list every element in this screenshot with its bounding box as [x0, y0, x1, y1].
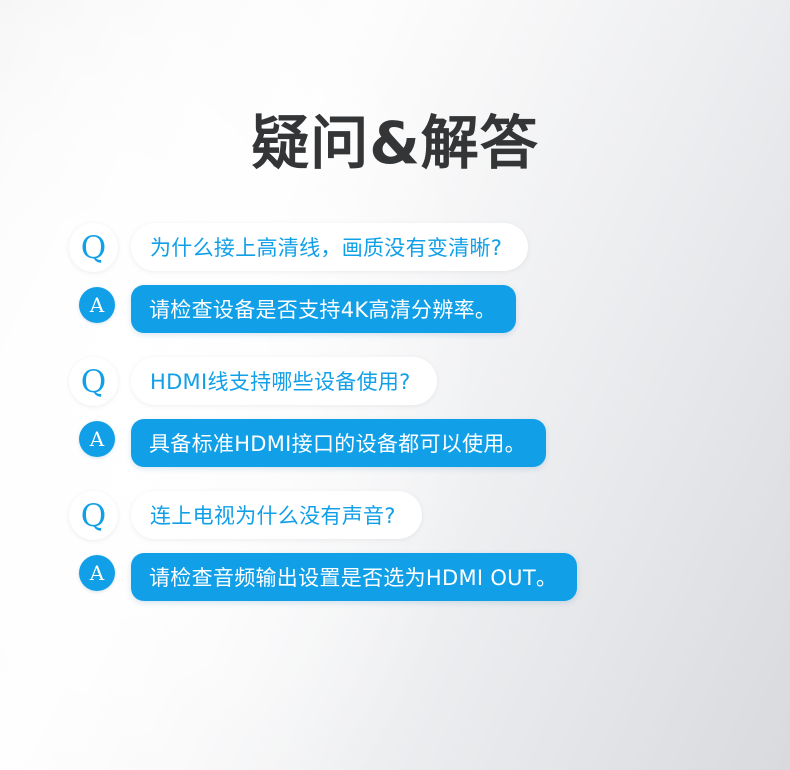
- faq-group: Q 为什么接上高清线，画质没有变清晰? A 请检查设备是否支持4K高清分辨率。: [0, 214, 790, 348]
- answer-badge: A: [79, 555, 115, 591]
- faq-question-row: Q HDMI线支持哪些设备使用?: [0, 348, 790, 415]
- faq-list: Q 为什么接上高清线，画质没有变清晰? A 请检查设备是否支持4K高清分辨率。 …: [0, 214, 790, 616]
- faq-group: Q 连上电视为什么没有声音? A 请检查音频输出设置是否选为HDMI OUT。: [0, 482, 790, 616]
- question-badge: Q: [69, 491, 118, 540]
- question-bubble: 为什么接上高清线，画质没有变清晰?: [131, 223, 528, 271]
- faq-page-content: 疑问&解答 Q 为什么接上高清线，画质没有变清晰? A 请检查设备是否支持4K高…: [0, 0, 790, 770]
- faq-answer-row: A 请检查音频输出设置是否选为HDMI OUT。: [0, 549, 790, 616]
- question-badge: Q: [69, 357, 118, 406]
- faq-answer-row: A 具备标准HDMI接口的设备都可以使用。: [0, 415, 790, 482]
- faq-page: 疑问&解答 Q 为什么接上高清线，画质没有变清晰? A 请检查设备是否支持4K高…: [0, 0, 790, 770]
- answer-bubble: 具备标准HDMI接口的设备都可以使用。: [131, 419, 546, 467]
- answer-badge: A: [79, 421, 115, 457]
- page-title: 疑问&解答: [0, 107, 790, 179]
- answer-bubble: 请检查音频输出设置是否选为HDMI OUT。: [131, 553, 577, 601]
- question-bubble: HDMI线支持哪些设备使用?: [131, 357, 437, 405]
- faq-question-row: Q 为什么接上高清线，画质没有变清晰?: [0, 214, 790, 281]
- question-bubble: 连上电视为什么没有声音?: [131, 491, 422, 539]
- answer-bubble: 请检查设备是否支持4K高清分辨率。: [131, 285, 516, 333]
- faq-answer-row: A 请检查设备是否支持4K高清分辨率。: [0, 281, 790, 348]
- answer-badge: A: [79, 287, 115, 323]
- faq-group: Q HDMI线支持哪些设备使用? A 具备标准HDMI接口的设备都可以使用。: [0, 348, 790, 482]
- faq-question-row: Q 连上电视为什么没有声音?: [0, 482, 790, 549]
- question-badge: Q: [69, 223, 118, 272]
